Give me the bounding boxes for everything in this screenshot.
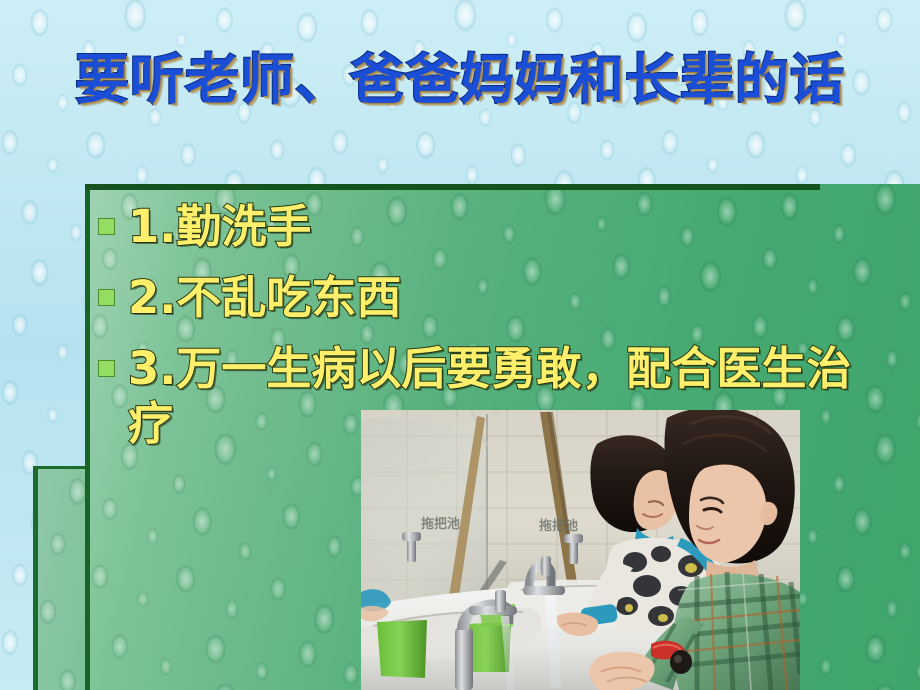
main-panel-top-border (85, 184, 820, 190)
children-washing-hands-photo: 拖把池 拖把池 (361, 410, 800, 690)
list-item-text: 2.不乱吃东西 (128, 271, 858, 326)
square-bullet-icon (98, 289, 115, 306)
list-item: 1.勤洗手 (98, 200, 858, 255)
presentation-slide: 要听老师、爸爸妈妈和长辈的话 1.勤洗手 2.不乱吃东西 3.万一生病以后要勇敢… (0, 0, 920, 690)
square-bullet-icon (98, 360, 115, 377)
square-bullet-icon (98, 218, 115, 235)
slide-title: 要听老师、爸爸妈妈和长辈的话 (0, 52, 920, 109)
list-item-text: 1.勤洗手 (128, 200, 858, 255)
list-item: 2.不乱吃东西 (98, 271, 858, 326)
